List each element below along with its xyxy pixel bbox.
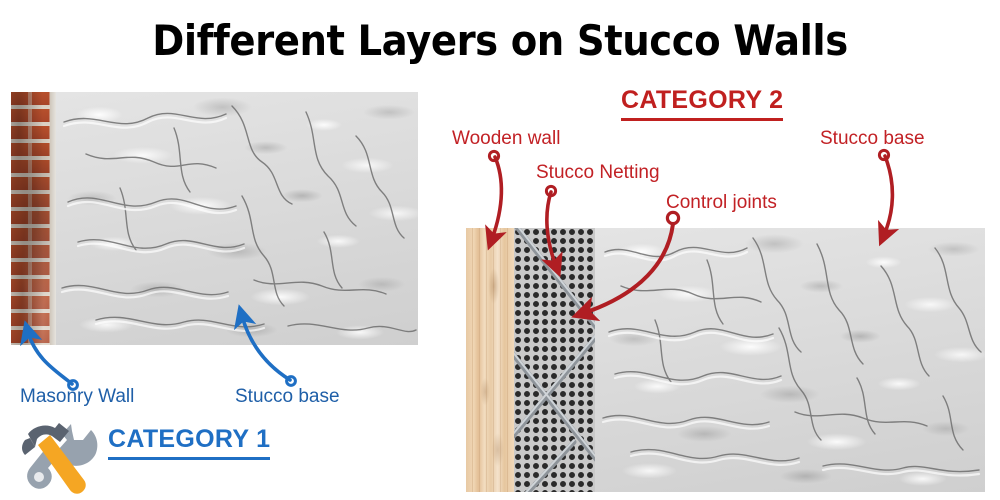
category-2-image [466,228,985,492]
stucco-crack-texture-left [56,92,418,345]
label-stucco-netting: Stucco Netting [536,162,660,184]
page-title: Different Layers on Stucco Walls [40,16,960,65]
label-masonry-wall: Masonry Wall [20,386,134,408]
label-control-joints: Control joints [666,192,777,214]
tools-icon [8,418,104,498]
control-joint-lines [514,228,595,492]
stucco-base-layer-left [56,92,418,345]
brick-shading [11,92,50,345]
stucco-crack-texture-right [595,228,985,492]
label-stucco-base-right: Stucco base [820,128,925,150]
category-1-heading: CATEGORY 1 [108,425,270,460]
wood-grain-texture [466,228,514,492]
category-2-heading: CATEGORY 2 [621,86,783,121]
label-wooden-wall: Wooden wall [452,128,560,150]
diagram-canvas: Different Layers on Stucco Walls [0,0,1000,500]
arrow-stucco-base-right [879,150,892,235]
arrow-wooden-wall [489,151,501,239]
label-stucco-base-left: Stucco base [235,386,340,408]
stucco-base-layer-right [595,228,985,492]
category-1-image [11,92,418,345]
